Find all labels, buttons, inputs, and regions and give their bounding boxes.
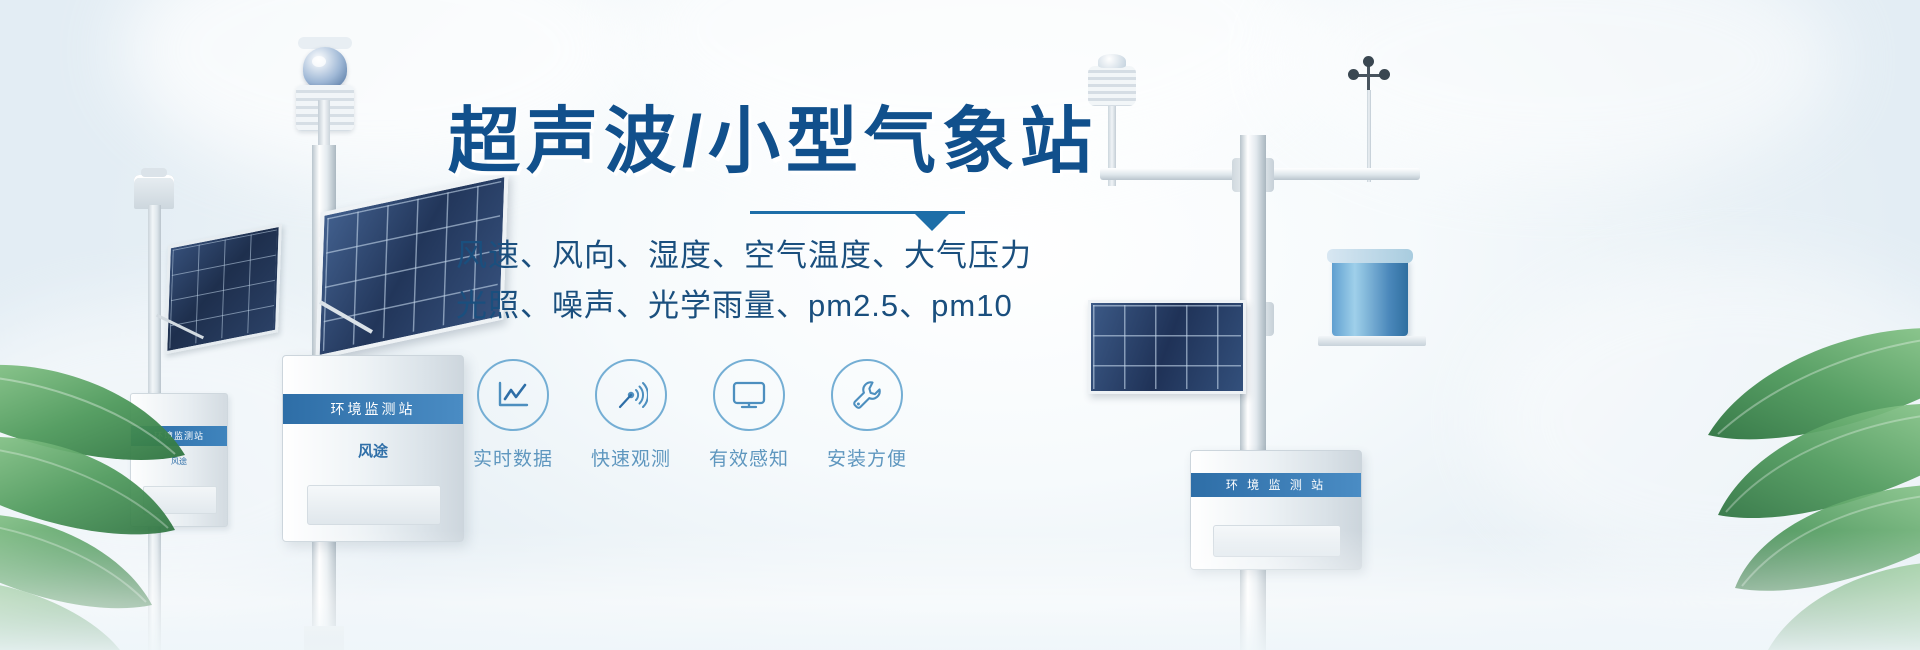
feature-icon-circle <box>831 359 903 431</box>
feature-icon-circle <box>477 359 549 431</box>
subtitle-line-1: 风速、风向、湿度、空气温度、大气压力 <box>456 231 1130 281</box>
feature-item-realtime-data[interactable]: 实时数据 <box>454 359 572 471</box>
feature-icon-circle <box>713 359 785 431</box>
control-cabinet: 环境监测站 风途 <box>282 355 464 542</box>
feature-label: 快速观测 <box>572 444 690 471</box>
anemometer-icon <box>1352 62 1386 92</box>
monitor-icon <box>731 380 767 410</box>
divider <box>750 203 965 225</box>
feature-item-fast-observation[interactable]: 快速观测 <box>572 359 690 471</box>
cabinet-band: 环 境 监 测 站 <box>1191 473 1361 497</box>
feature-item-easy-installation[interactable]: 安装方便 <box>808 359 926 471</box>
feature-label: 实时数据 <box>454 444 572 471</box>
cabinet-band-label: 环境监测站 <box>283 394 463 424</box>
cabinet-brand-label: 风途 <box>358 440 388 461</box>
feature-icon-circle <box>595 359 667 431</box>
feature-label: 安装方便 <box>808 444 926 471</box>
feature-label: 有效感知 <box>690 444 808 471</box>
feature-list: 实时数据 快速观测 <box>454 359 1130 471</box>
ground-haze <box>0 530 1920 650</box>
equipment-shelf <box>1318 336 1426 346</box>
wrench-icon <box>850 378 884 412</box>
banner-content: 超声波/小型气象站 风速、风向、湿度、空气温度、大气压力 光照、噪声、光学雨量、… <box>440 100 1130 471</box>
cabinet-vent <box>307 485 441 525</box>
line-chart-icon <box>496 380 530 410</box>
product-banner: 环境监测站 风途 环境监测站 风途 <box>0 0 1920 650</box>
radiation-shield-icon <box>134 175 174 209</box>
subtitle-line-2: 光照、噪声、光学雨量、pm2.5、pm10 <box>456 281 1130 331</box>
rain-gauge-icon <box>1332 258 1408 336</box>
radar-signal-icon <box>614 378 648 412</box>
divider-triangle-icon <box>915 214 949 231</box>
page-title: 超声波/小型气象站 <box>448 100 1130 185</box>
feature-item-effective-sensing[interactable]: 有效感知 <box>690 359 808 471</box>
cabinet-band: 环境监测站 <box>283 394 463 424</box>
ultrasonic-dome-sensor-icon <box>303 47 347 89</box>
cabinet-band-label: 环 境 监 测 站 <box>1191 473 1361 497</box>
